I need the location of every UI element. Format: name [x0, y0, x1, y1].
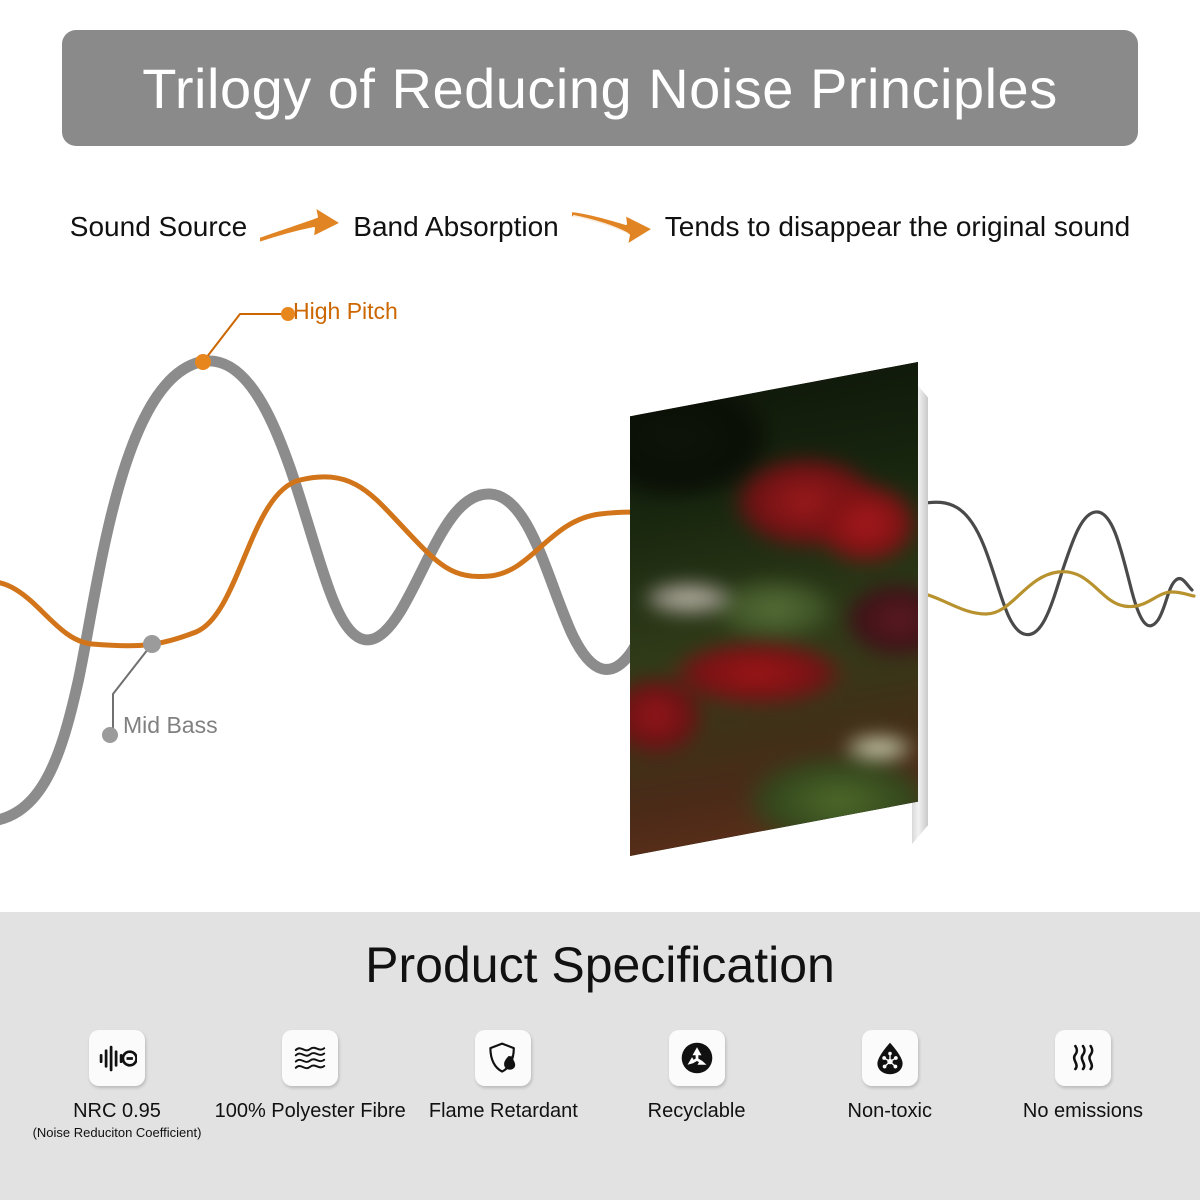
flow-step-sound-source: Sound Source: [70, 211, 247, 243]
spec-item-recyclable: Recyclable: [602, 1030, 792, 1123]
right-arrow-icon: [257, 203, 343, 251]
spec-item-polyester-fibre: 100% Polyester Fibre: [215, 1030, 405, 1123]
spec-item-nrc: NRC 0.95 (Noise Reduciton Coefficient): [22, 1030, 212, 1141]
spec-item-non-toxic: Non-toxic: [795, 1030, 985, 1123]
high-pitch-callout-leader: [195, 307, 295, 370]
recycle-icon: [669, 1030, 725, 1086]
spec-label-nrc: NRC 0.95: [73, 1100, 161, 1123]
noise-reduction-icon: [89, 1030, 145, 1086]
process-flow-row: Sound Source Band Absorption Tends to di…: [0, 200, 1200, 254]
spec-item-flame-retardant: Flame Retardant: [408, 1030, 598, 1123]
fibre-waves-icon: [282, 1030, 338, 1086]
flow-step-band-absorption: Band Absorption: [353, 211, 559, 243]
high-pitch-label: High Pitch: [293, 298, 398, 325]
spec-section-title: Product Specification: [0, 936, 1200, 994]
spec-label-flame-retardant: Flame Retardant: [429, 1100, 578, 1123]
mid-bass-label: Mid Bass: [123, 712, 218, 739]
spec-label-recyclable: Recyclable: [648, 1100, 746, 1123]
emissions-smoke-icon: [1055, 1030, 1111, 1086]
spec-label-non-toxic: Non-toxic: [848, 1100, 932, 1123]
spec-sublabel-nrc: (Noise Reduciton Coefficient): [33, 1125, 202, 1141]
spec-label-no-emissions: No emissions: [1023, 1100, 1143, 1123]
non-toxic-droplet-icon: [862, 1030, 918, 1086]
right-arrow-icon: [569, 203, 655, 251]
product-specification-section: Product Specification NRC 0.95 (: [0, 912, 1200, 1200]
shield-flame-icon: [475, 1030, 531, 1086]
panel-flower-print: [630, 362, 918, 856]
high-pitch-wave: [0, 361, 676, 822]
damped-gray-wave: [920, 502, 1192, 634]
flow-step-tends-to-disappear: Tends to disappear the original sound: [665, 211, 1130, 243]
acoustic-panel: [630, 362, 930, 862]
waveform-svg: [0, 262, 1200, 912]
panel-front-face: [630, 362, 918, 856]
sound-absorption-diagram: High Pitch Mid Bass: [0, 262, 1200, 912]
spec-item-no-emissions: No emissions: [988, 1030, 1178, 1123]
page-title: Trilogy of Reducing Noise Principles: [142, 56, 1057, 121]
spec-label-polyester-fibre: 100% Polyester Fibre: [215, 1100, 406, 1123]
spec-items-row: NRC 0.95 (Noise Reduciton Coefficient) 1…: [0, 1030, 1200, 1141]
page-title-banner: Trilogy of Reducing Noise Principles: [62, 30, 1138, 146]
